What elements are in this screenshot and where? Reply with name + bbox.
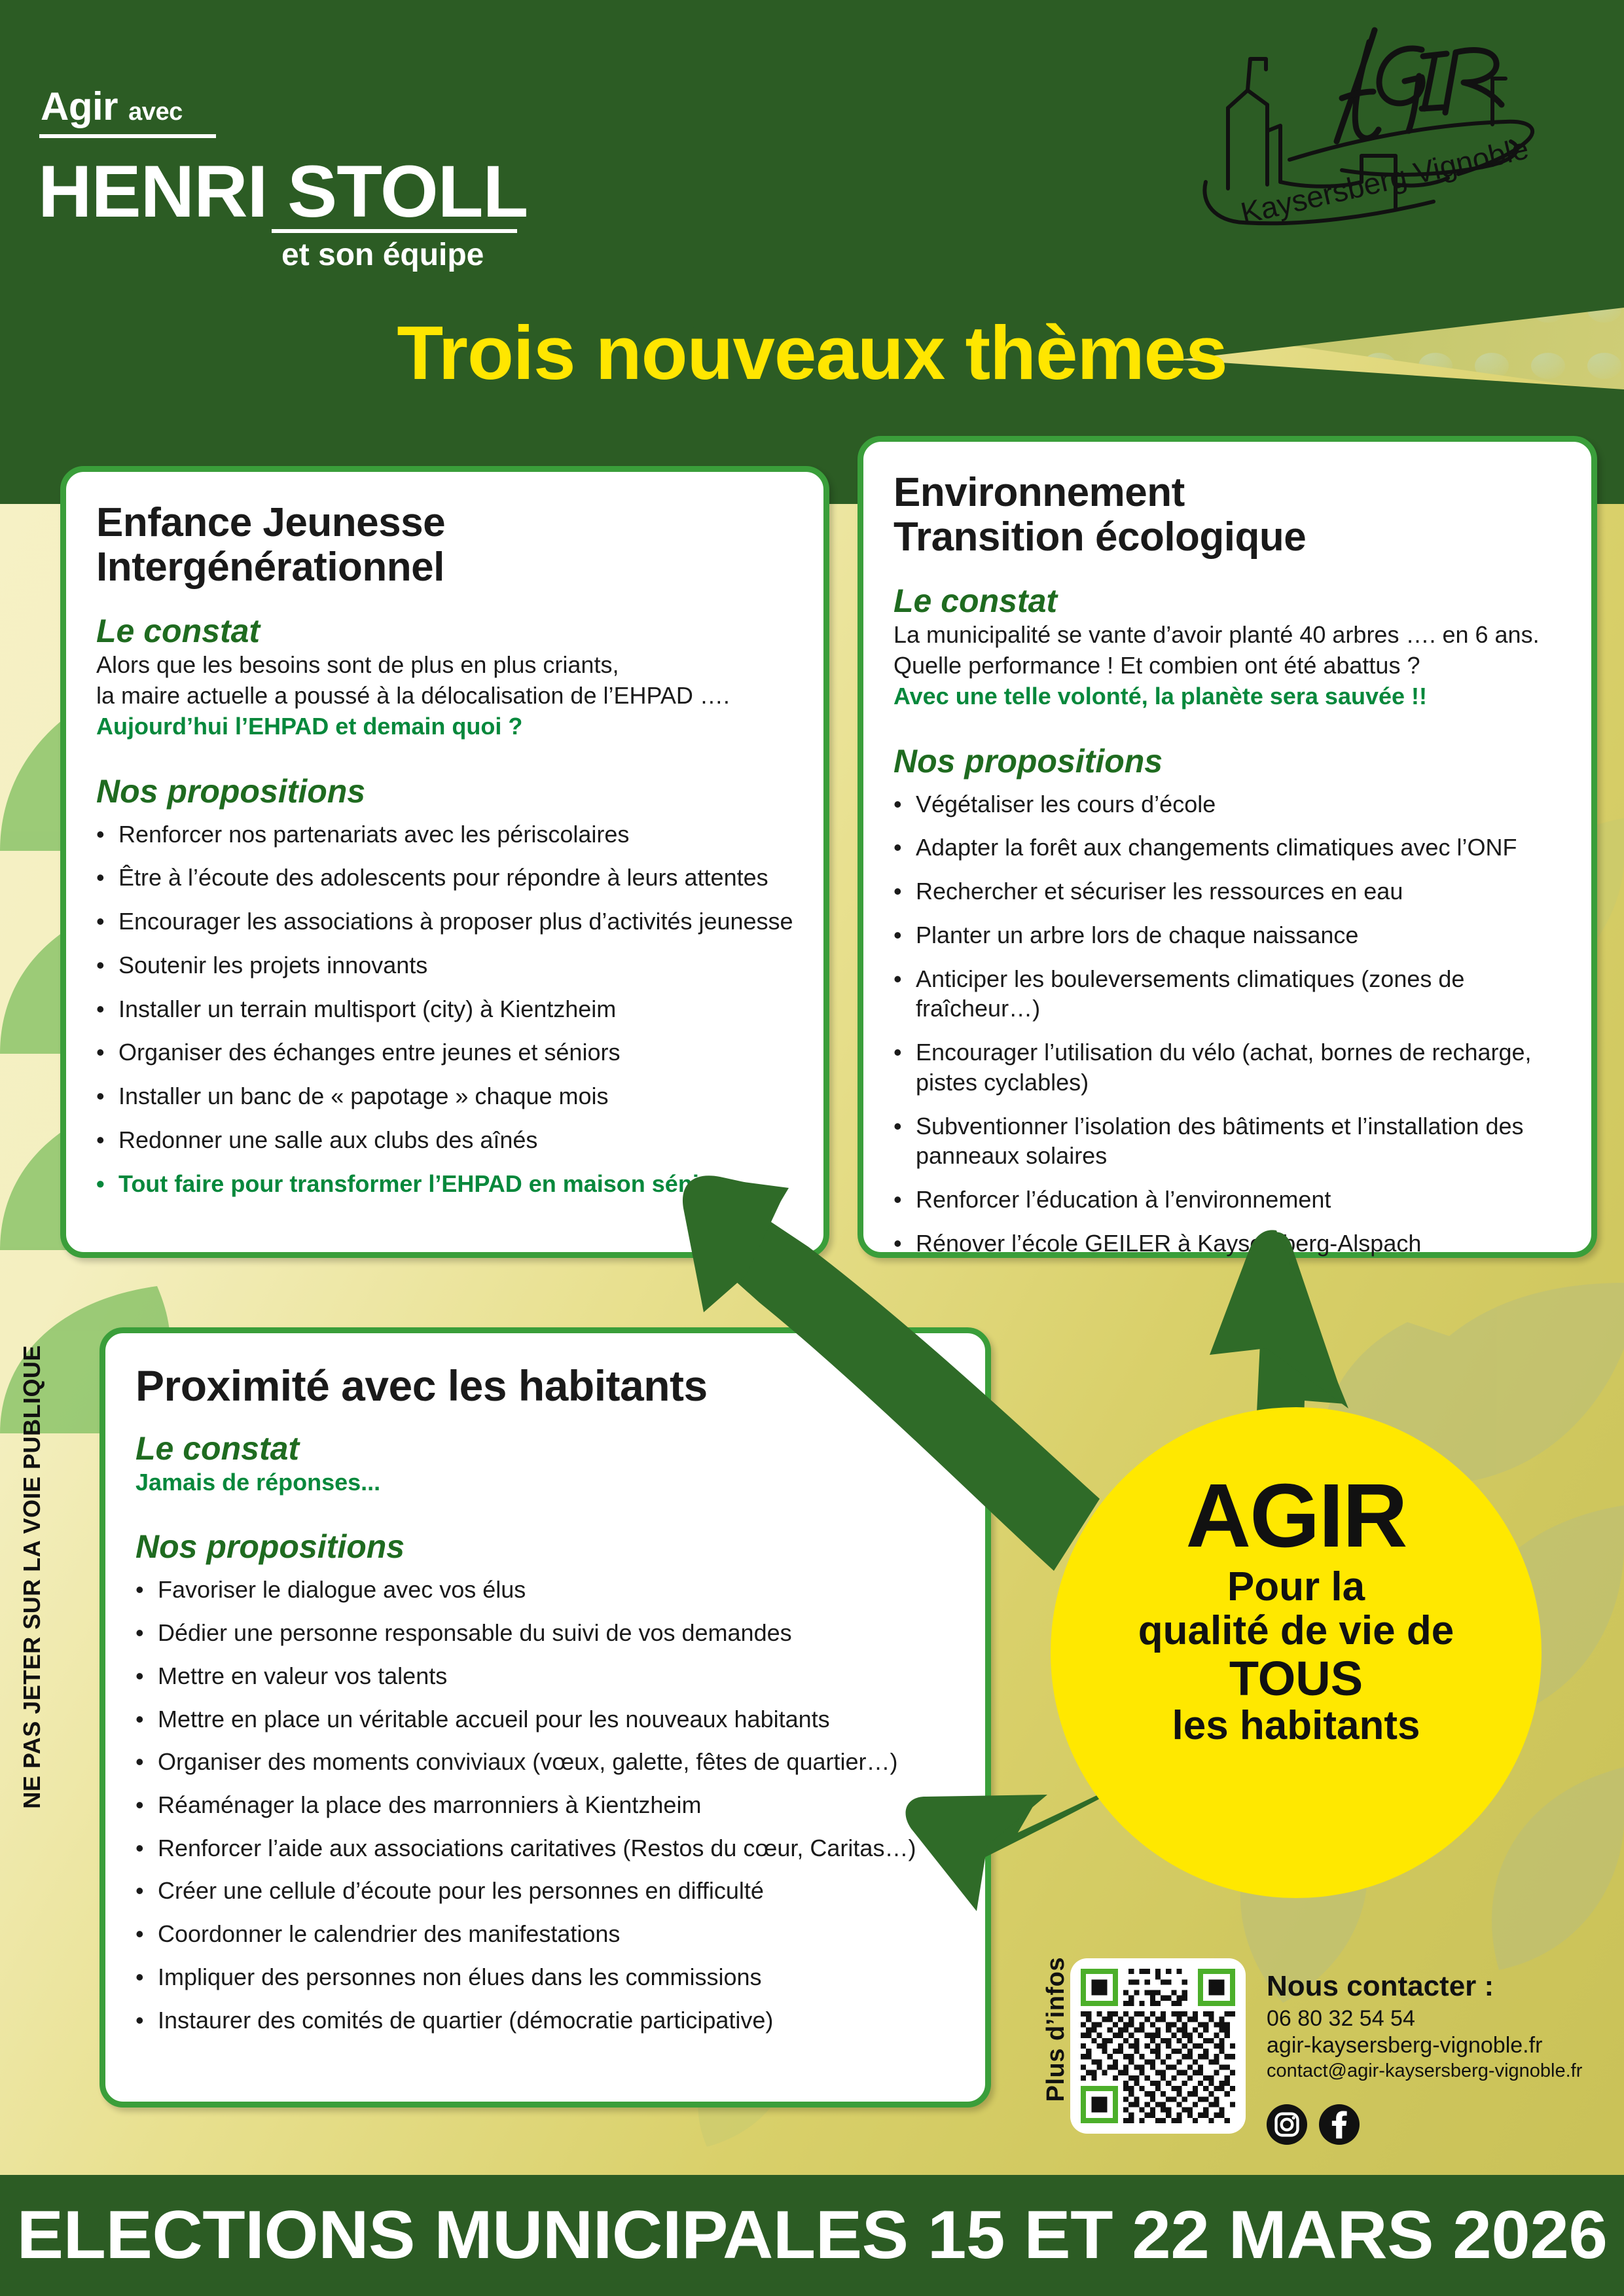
agir-badge-line4: TOUS bbox=[1229, 1653, 1363, 1704]
card-proximite: Proximité avec les habitants Le constat … bbox=[99, 1327, 991, 2108]
list-item: •Encourager l’utilisation du vélo (achat… bbox=[893, 1037, 1561, 1097]
list-item-label: Organiser des moments conviviaux (vœux, … bbox=[158, 1748, 897, 1775]
card-title: Enfance Jeunesse Intergénérationnel bbox=[96, 501, 793, 590]
list-item-label: Être à l’écoute des adolescents pour rép… bbox=[118, 864, 768, 891]
constat-heading: Le constat bbox=[96, 612, 793, 650]
list-item-label: Encourager les associations à proposer p… bbox=[118, 908, 793, 935]
list-item: •Organiser des échanges entre jeunes et … bbox=[96, 1037, 793, 1067]
list-item: •Installer un terrain multisport (city) … bbox=[96, 994, 793, 1024]
bullet-icon: • bbox=[893, 876, 916, 906]
facebook-icon[interactable] bbox=[1319, 2104, 1360, 2145]
qr-code[interactable] bbox=[1070, 1958, 1246, 2134]
bullet-icon: • bbox=[96, 906, 118, 937]
card-title-line1: Enfance Jeunesse bbox=[96, 501, 793, 545]
propositions-list: •Favoriser le dialogue avec vos élus •Dé… bbox=[135, 1575, 955, 2035]
list-item: •Rechercher et sécuriser les ressources … bbox=[893, 876, 1561, 906]
header-kicker: Agir avec bbox=[41, 84, 183, 129]
kicker-strong: Agir bbox=[41, 84, 118, 128]
contact-phone: 06 80 32 54 54 bbox=[1267, 2005, 1582, 2032]
list-item-label: Dédier une personne responsable du suivi… bbox=[158, 1619, 792, 1646]
list-item-label: Impliquer des personnes non élues dans l… bbox=[158, 1964, 761, 1990]
card-title-line1: Environnement bbox=[893, 471, 1561, 515]
list-item-label: Soutenir les projets innovants bbox=[118, 952, 427, 978]
constat-heading: Le constat bbox=[135, 1429, 955, 1467]
constat-line: La municipalité se vante d’avoir planté … bbox=[893, 620, 1561, 651]
agir-badge: AGIR Pour la qualité de vie de TOUS les … bbox=[1051, 1407, 1542, 1898]
bullet-icon: • bbox=[96, 819, 118, 850]
constat-heading: Le constat bbox=[893, 582, 1561, 620]
constat-strong: Jamais de réponses... bbox=[135, 1467, 955, 1498]
team-label: et son équipe bbox=[281, 237, 484, 273]
card-enfance-jeunesse: Enfance Jeunesse Intergénérationnel Le c… bbox=[60, 466, 829, 1258]
footer-text: ELECTIONS MUNICIPALES 15 ET 22 MARS 2026 bbox=[17, 2197, 1608, 2274]
agir-badge-line5: les habitants bbox=[1172, 1704, 1420, 1748]
list-item-label: Renforcer nos partenariats avec les péri… bbox=[118, 821, 629, 848]
bullet-icon: • bbox=[135, 1919, 158, 1949]
bullet-icon: • bbox=[96, 1125, 118, 1155]
bullet-icon: • bbox=[893, 964, 916, 994]
constat-line: Alors que les besoins sont de plus en pl… bbox=[96, 650, 793, 681]
list-item-label: Mettre en place un véritable accueil pou… bbox=[158, 1706, 830, 1732]
bullet-icon: • bbox=[96, 1169, 118, 1199]
bullet-icon: • bbox=[135, 1833, 158, 1863]
list-item: •Rénover l’école GEILER à Kaysersberg-Al… bbox=[893, 1229, 1561, 1259]
constat-strong: Aujourd’hui l’EHPAD et demain quoi ? bbox=[96, 711, 793, 742]
bullet-icon: • bbox=[96, 1081, 118, 1111]
list-item: •Subventionner l’isolation des bâtiments… bbox=[893, 1111, 1561, 1171]
list-item: •Végétaliser les cours d’école bbox=[893, 789, 1561, 819]
list-item-label: Organiser des échanges entre jeunes et s… bbox=[118, 1039, 620, 1066]
list-item-label: Favoriser le dialogue avec vos élus bbox=[158, 1576, 526, 1603]
legal-side-note: NE PAS JETER SUR LA VOIE PUBLIQUE bbox=[18, 1345, 46, 1809]
list-item-label: Anticiper les bouleversements climatique… bbox=[916, 965, 1464, 1022]
kicker-small: avec bbox=[128, 98, 183, 126]
propositions-list: •Végétaliser les cours d’école •Adapter … bbox=[893, 789, 1561, 1259]
list-item-label: Subventionner l’isolation des bâtiments … bbox=[916, 1113, 1524, 1170]
bullet-icon: • bbox=[135, 1962, 158, 1992]
list-item-highlighted: •Tout faire pour transformer l’EHPAD en … bbox=[96, 1169, 793, 1199]
list-item: •Organiser des moments conviviaux (vœux,… bbox=[135, 1747, 955, 1777]
list-item: •Mettre en place un véritable accueil po… bbox=[135, 1704, 955, 1734]
footer-band: ELECTIONS MUNICIPALES 15 ET 22 MARS 2026 bbox=[0, 2175, 1624, 2296]
list-item-label: Adapter la forêt aux changements climati… bbox=[916, 834, 1517, 861]
bullet-icon: • bbox=[893, 1185, 916, 1215]
card-title: Proximité avec les habitants bbox=[135, 1362, 955, 1410]
list-item-label: Instaurer des comités de quartier (démoc… bbox=[158, 2007, 773, 2034]
candidate-name: HENRI STOLL bbox=[38, 149, 528, 234]
constat-strong: Avec une telle volonté, la planète sera … bbox=[893, 681, 1561, 712]
header-rule-bottom bbox=[272, 229, 517, 233]
qr-label: Plus d’infos bbox=[1042, 1957, 1070, 2102]
bullet-icon: • bbox=[96, 994, 118, 1024]
bullet-icon: • bbox=[96, 863, 118, 893]
contact-email[interactable]: contact@agir-kaysersberg-vignoble.fr bbox=[1267, 2060, 1582, 2083]
list-item-label: Installer un terrain multisport (city) à… bbox=[118, 996, 616, 1022]
card-environnement: Environnement Transition écologique Le c… bbox=[857, 436, 1597, 1258]
list-item: •Redonner une salle aux clubs des aînés bbox=[96, 1125, 793, 1155]
list-item: •Mettre en valeur vos talents bbox=[135, 1661, 955, 1691]
bullet-icon: • bbox=[893, 789, 916, 819]
propositions-heading: Nos propositions bbox=[893, 742, 1561, 780]
list-item: •Soutenir les projets innovants bbox=[96, 950, 793, 980]
list-item: •Être à l’écoute des adolescents pour ré… bbox=[96, 863, 793, 893]
campaign-poster: Agir avec HENRI STOLL et son équipe bbox=[0, 0, 1624, 2296]
bullet-icon: • bbox=[135, 1876, 158, 1906]
list-item-label: Rénover l’école GEILER à Kaysersberg-Als… bbox=[916, 1230, 1421, 1257]
bullet-icon: • bbox=[893, 1229, 916, 1259]
contact-heading: Nous contacter : bbox=[1267, 1970, 1582, 2003]
list-item: •Dédier une personne responsable du suiv… bbox=[135, 1618, 955, 1648]
page-title: Trois nouveaux thèmes bbox=[0, 309, 1624, 397]
bullet-icon: • bbox=[135, 1575, 158, 1605]
list-item: •Favoriser le dialogue avec vos élus bbox=[135, 1575, 955, 1605]
propositions-heading: Nos propositions bbox=[135, 1528, 955, 1566]
card-title-line2: Transition écologique bbox=[893, 515, 1561, 560]
agir-badge-word: AGIR bbox=[1186, 1473, 1407, 1559]
list-item: •Créer une cellule d’écoute pour les per… bbox=[135, 1876, 955, 1906]
propositions-list: •Renforcer nos partenariats avec les pér… bbox=[96, 819, 793, 1198]
list-item: •Renforcer l’aide aux associations carit… bbox=[135, 1833, 955, 1863]
list-item: •Renforcer l’éducation à l’environnement bbox=[893, 1185, 1561, 1215]
agir-badge-line3: qualité de vie de bbox=[1138, 1609, 1454, 1653]
list-item-label: Tout faire pour transformer l’EHPAD en m… bbox=[118, 1170, 736, 1197]
list-item: •Adapter la forêt aux changements climat… bbox=[893, 833, 1561, 863]
list-item-label: Végétaliser les cours d’école bbox=[916, 791, 1216, 817]
bullet-icon: • bbox=[135, 1790, 158, 1820]
card-title-line2: Intergénérationnel bbox=[96, 545, 793, 590]
list-item-label: Redonner une salle aux clubs des aînés bbox=[118, 1126, 537, 1153]
list-item-label: Encourager l’utilisation du vélo (achat,… bbox=[916, 1039, 1532, 1096]
list-item: •Anticiper les bouleversements climatiqu… bbox=[893, 964, 1561, 1024]
list-item: •Instaurer des comités de quartier (démo… bbox=[135, 2005, 955, 2036]
bullet-icon: • bbox=[135, 1704, 158, 1734]
constat-line: Quelle performance ! Et combien ont été … bbox=[893, 651, 1561, 681]
list-item: •Renforcer nos partenariats avec les pér… bbox=[96, 819, 793, 850]
bullet-icon: • bbox=[893, 1111, 916, 1141]
header-rule-top bbox=[39, 134, 216, 138]
contact-block: Nous contacter : 06 80 32 54 54 agir-kay… bbox=[1267, 1970, 1582, 2083]
list-item-label: Mettre en valeur vos talents bbox=[158, 1662, 447, 1689]
instagram-icon[interactable] bbox=[1267, 2104, 1307, 2145]
bullet-icon: • bbox=[135, 1747, 158, 1777]
list-item-label: Réaménager la place des marronniers à Ki… bbox=[158, 1791, 701, 1818]
contact-website[interactable]: agir-kaysersberg-vignoble.fr bbox=[1267, 2032, 1582, 2059]
list-item: •Installer un banc de « papotage » chaqu… bbox=[96, 1081, 793, 1111]
list-item-label: Installer un banc de « papotage » chaque… bbox=[118, 1083, 609, 1109]
list-item: •Impliquer des personnes non élues dans … bbox=[135, 1962, 955, 1992]
constat-line: la maire actuelle a poussé à la délocali… bbox=[96, 681, 793, 711]
bullet-icon: • bbox=[135, 1618, 158, 1648]
social-links bbox=[1267, 2104, 1360, 2145]
list-item-label: Créer une cellule d’écoute pour les pers… bbox=[158, 1877, 764, 1904]
bullet-icon: • bbox=[893, 833, 916, 863]
card-title: Environnement Transition écologique bbox=[893, 471, 1561, 560]
propositions-heading: Nos propositions bbox=[96, 772, 793, 810]
list-item: •Encourager les associations à proposer … bbox=[96, 906, 793, 937]
list-item-label: Renforcer l’aide aux associations carita… bbox=[158, 1835, 916, 1861]
list-item: •Réaménager la place des marronniers à K… bbox=[135, 1790, 955, 1820]
list-item-label: Rechercher et sécuriser les ressources e… bbox=[916, 878, 1403, 905]
list-item-label: Coordonner le calendrier des manifestati… bbox=[158, 1920, 620, 1947]
bullet-icon: • bbox=[135, 2005, 158, 2036]
agir-badge-line2: Pour la bbox=[1227, 1566, 1365, 1609]
list-item-label: Renforcer l’éducation à l’environnement bbox=[916, 1186, 1331, 1213]
list-item-label: Planter un arbre lors de chaque naissanc… bbox=[916, 922, 1358, 948]
bullet-icon: • bbox=[893, 1037, 916, 1067]
list-item: •Planter un arbre lors de chaque naissan… bbox=[893, 920, 1561, 950]
list-item: •Coordonner le calendrier des manifestat… bbox=[135, 1919, 955, 1949]
agir-logo: Kaysersberg Vignoble bbox=[1152, 13, 1558, 229]
bullet-icon: • bbox=[893, 920, 916, 950]
card-title-line1: Proximité avec les habitants bbox=[135, 1362, 955, 1410]
bullet-icon: • bbox=[96, 1037, 118, 1067]
bullet-icon: • bbox=[96, 950, 118, 980]
bullet-icon: • bbox=[135, 1661, 158, 1691]
